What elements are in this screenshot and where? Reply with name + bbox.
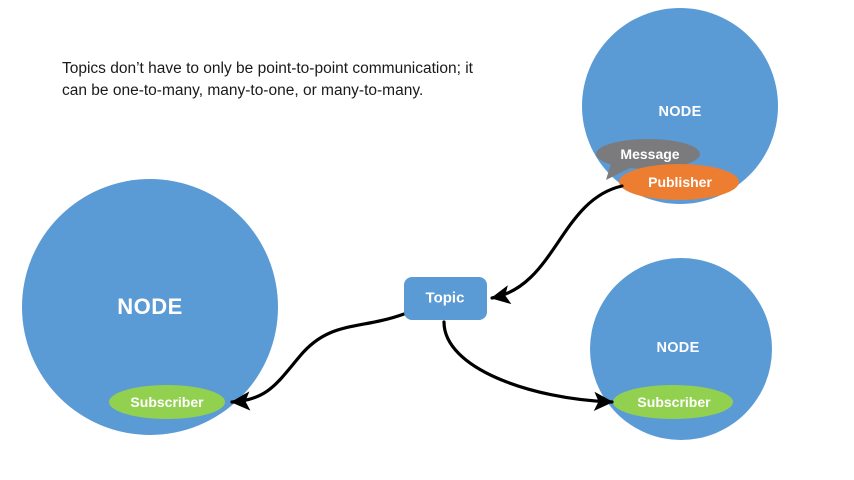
connector-topic-to-subscriber-bottom-right[interactable]: [444, 322, 612, 402]
diagram-canvas: [0, 0, 854, 480]
subscriber-ellipse-bottom-right[interactable]: [613, 385, 733, 419]
publisher-ellipse[interactable]: [619, 164, 739, 200]
connector-publisher-to-topic[interactable]: [492, 186, 622, 298]
subscriber-ellipse-left[interactable]: [109, 385, 225, 419]
node-circles: [22, 8, 778, 440]
slide-canvas: Topics don’t have to only be point-to-po…: [0, 0, 854, 480]
topic-box[interactable]: [404, 277, 487, 320]
